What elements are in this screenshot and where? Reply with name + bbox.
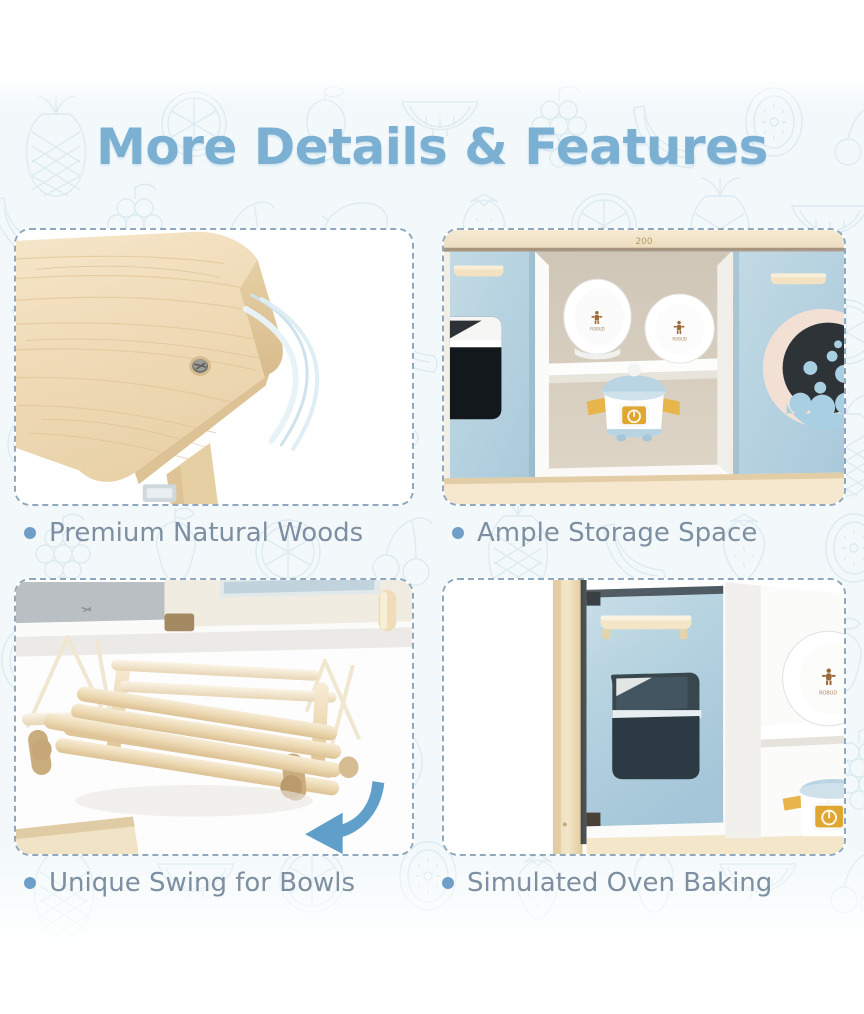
caption-text: Unique Swing for Bowls <box>49 868 355 898</box>
feature-image-premium-natural-woods <box>14 228 414 506</box>
feature-image-ample-storage-space: 200 <box>442 228 846 506</box>
background-fade-top <box>0 74 864 108</box>
kitchen-storage-photo: 200 <box>444 230 844 504</box>
bullet-icon <box>24 877 36 889</box>
bullet-icon <box>452 527 464 539</box>
bullet-icon <box>442 877 454 889</box>
svg-text:ROBUD: ROBUD <box>819 690 837 696</box>
caption-text: Ample Storage Space <box>477 518 757 548</box>
feature-detail-page: More Details & Features <box>0 0 864 1014</box>
caption-unique-swing-for-bowls: Unique Swing for Bowls <box>24 868 355 898</box>
page-title: More Details & Features <box>0 118 864 176</box>
shelf-label: 200 <box>636 237 653 247</box>
oven-photo: ROBUD <box>444 580 844 854</box>
bullet-icon <box>24 527 36 539</box>
caption-ample-storage-space: Ample Storage Space <box>452 518 757 548</box>
svg-text:ROBUD: ROBUD <box>672 336 686 341</box>
background-fade-bottom <box>0 844 864 964</box>
feature-image-unique-swing-for-bowls <box>14 578 414 856</box>
caption-premium-natural-woods: Premium Natural Woods <box>24 518 363 548</box>
svg-text:ROBUD: ROBUD <box>590 327 604 332</box>
swing-rack-photo <box>16 580 412 854</box>
caption-text: Premium Natural Woods <box>49 518 363 548</box>
caption-text: Simulated Oven Baking <box>467 868 772 898</box>
caption-simulated-oven-baking: Simulated Oven Baking <box>442 868 772 898</box>
feature-image-simulated-oven-baking: ROBUD <box>442 578 846 856</box>
wood-corner-photo <box>16 230 412 504</box>
